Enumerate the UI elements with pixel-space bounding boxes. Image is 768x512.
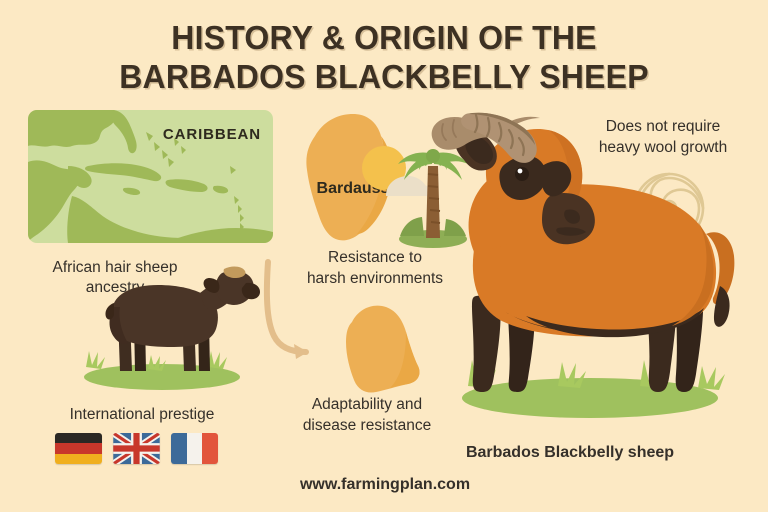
flag-row [55, 433, 218, 464]
page-title: HISTORY & ORIGIN OF THE BARBADOS BLACKBE… [0, 18, 768, 96]
title-line-1: HISTORY & ORIGIN OF THE [12, 18, 757, 57]
france-flag-icon [171, 433, 218, 464]
african-hair-sheep-icon [62, 255, 262, 395]
international-prestige-label: International prestige [22, 405, 262, 425]
adaptability-line-1: Adaptability and [312, 396, 422, 413]
caribbean-map-card: CARIBBEAN [28, 110, 273, 243]
united-kingdom-flag-icon [113, 433, 160, 464]
curved-down-arrow-icon [258, 258, 328, 368]
title-line-2: BARBADOS BLACKBELLY SHEEP [12, 57, 757, 96]
adaptability-line-2: disease resistance [303, 417, 431, 434]
website-url: www.farmingplan.com [255, 476, 515, 494]
infographic-poster: HISTORY & ORIGIN OF THE BARBADOS BLACKBE… [0, 0, 768, 512]
germany-flag-icon [55, 433, 102, 464]
map-label-caribbean: CARIBBEAN [163, 126, 261, 143]
sheep-caption: Barbados Blackbelly sheep [410, 444, 730, 462]
barbados-blackbelly-sheep-icon [430, 110, 740, 430]
resistance-line-1: Resistance to [328, 249, 422, 266]
